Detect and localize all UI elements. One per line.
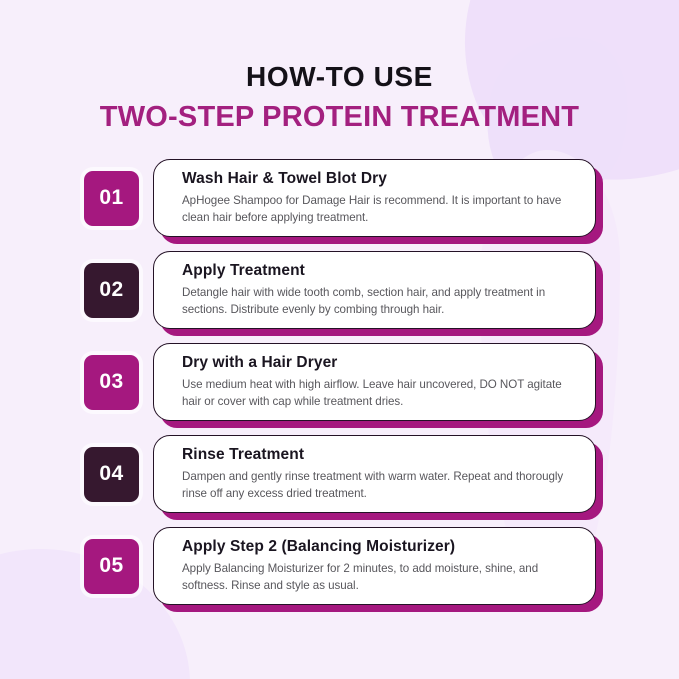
step-description: Detangle hair with wide tooth comb, sect… (182, 285, 579, 318)
step-card: Rinse Treatment Dampen and gently rinse … (153, 435, 596, 513)
step-title: Apply Treatment (182, 262, 579, 281)
step-title: Dry with a Hair Dryer (182, 354, 579, 373)
steps-list: 01 Wash Hair & Towel Blot Dry ApHogee Sh… (84, 159, 596, 605)
step-card: Wash Hair & Towel Blot Dry ApHogee Shamp… (153, 159, 596, 237)
list-item: 05 Apply Step 2 (Balancing Moisturizer) … (84, 527, 596, 605)
list-item: 04 Rinse Treatment Dampen and gently rin… (84, 435, 596, 513)
step-card: Dry with a Hair Dryer Use medium heat wi… (153, 343, 596, 421)
step-title: Rinse Treatment (182, 446, 579, 465)
step-card-wrapper: Dry with a Hair Dryer Use medium heat wi… (153, 343, 596, 421)
step-card-wrapper: Wash Hair & Towel Blot Dry ApHogee Shamp… (153, 159, 596, 237)
step-card-wrapper: Apply Treatment Detangle hair with wide … (153, 251, 596, 329)
step-card: Apply Treatment Detangle hair with wide … (153, 251, 596, 329)
step-number-badge: 01 (84, 171, 139, 226)
page-heading-group: HOW-TO USE TWO-STEP PROTEIN TREATMENT (0, 62, 679, 133)
list-item: 01 Wash Hair & Towel Blot Dry ApHogee Sh… (84, 159, 596, 237)
step-badge-wrapper: 02 (84, 251, 146, 329)
step-title: Wash Hair & Towel Blot Dry (182, 170, 579, 189)
step-card-wrapper: Apply Step 2 (Balancing Moisturizer) App… (153, 527, 596, 605)
step-description: Apply Balancing Moisturizer for 2 minute… (182, 561, 579, 594)
step-badge-wrapper: 01 (84, 159, 146, 237)
step-number-badge: 03 (84, 355, 139, 410)
page-title-primary: HOW-TO USE (0, 62, 679, 91)
page-title-secondary: TWO-STEP PROTEIN TREATMENT (0, 102, 679, 132)
step-card-wrapper: Rinse Treatment Dampen and gently rinse … (153, 435, 596, 513)
step-title: Apply Step 2 (Balancing Moisturizer) (182, 538, 579, 557)
list-item: 02 Apply Treatment Detangle hair with wi… (84, 251, 596, 329)
step-badge-wrapper: 04 (84, 435, 146, 513)
step-badge-wrapper: 03 (84, 343, 146, 421)
step-number-badge: 04 (84, 447, 139, 502)
step-description: ApHogee Shampoo for Damage Hair is recom… (182, 193, 579, 226)
step-description: Use medium heat with high airflow. Leave… (182, 377, 579, 410)
step-number-badge: 02 (84, 263, 139, 318)
step-badge-wrapper: 05 (84, 527, 146, 605)
list-item: 03 Dry with a Hair Dryer Use medium heat… (84, 343, 596, 421)
step-description: Dampen and gently rinse treatment with w… (182, 469, 579, 502)
step-number-badge: 05 (84, 539, 139, 594)
step-card: Apply Step 2 (Balancing Moisturizer) App… (153, 527, 596, 605)
